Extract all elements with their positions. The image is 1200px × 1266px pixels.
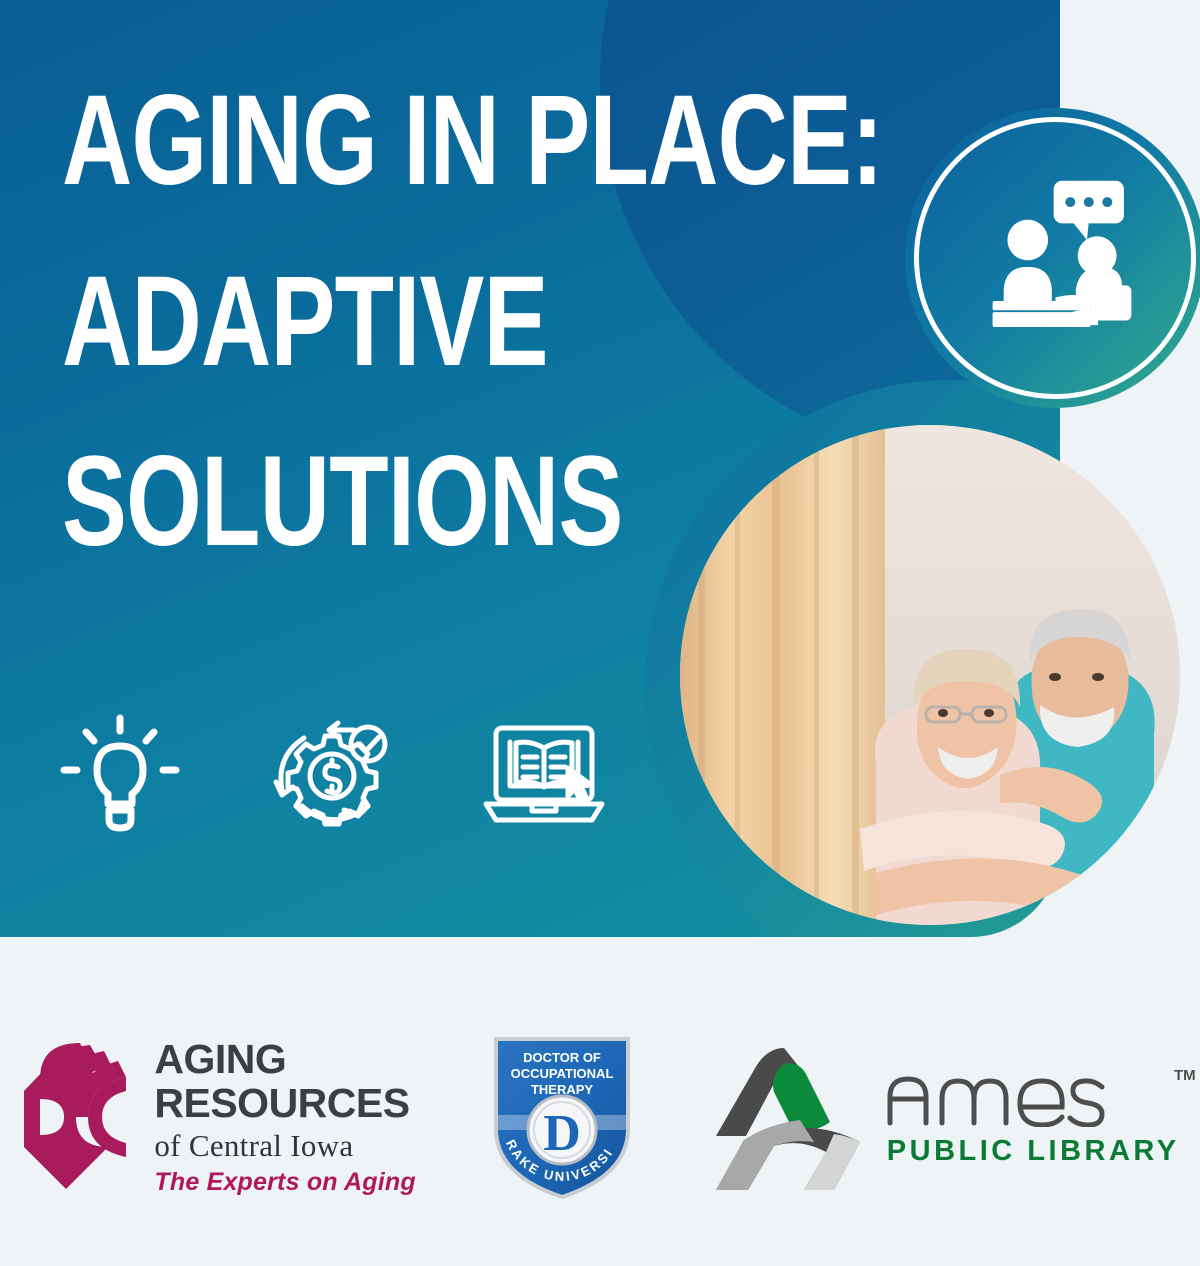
aging-resources-logo: AGING RESOURCES of Central Iowa The Expe… — [20, 1039, 415, 1195]
ames-wordmark: TM PUBLIC LIBRARY — [884, 1065, 1180, 1168]
title-line-3: SOLUTIONS — [62, 439, 693, 566]
laptop-book-icon — [480, 712, 608, 838]
ames-subtitle: PUBLIC LIBRARY — [884, 1135, 1180, 1168]
consultation-badge — [905, 108, 1200, 408]
senior-couple-photo — [680, 425, 1180, 925]
ames-trademark: TM — [1174, 1067, 1196, 1084]
aging-resources-mark-icon — [20, 1043, 140, 1191]
title-line-2: ADAPTIVE — [62, 259, 693, 386]
partner-logo-footer: AGING RESOURCES of Central Iowa The Expe… — [0, 937, 1200, 1266]
aging-resources-line-1: AGING — [154, 1039, 415, 1080]
aging-resources-wordmark: AGING RESOURCES of Central Iowa The Expe… — [154, 1039, 415, 1195]
consultation-icon — [963, 166, 1148, 351]
ames-a-mark-icon — [708, 1042, 866, 1192]
title-line-1: AGING IN PLACE: — [62, 78, 693, 205]
drake-university-logo: DOCTOR OF OCCUPATIONAL THERAPY D DRAKE U… — [482, 1029, 642, 1204]
drake-top-line-1: DOCTOR OF — [523, 1050, 601, 1065]
drake-top-line-2: OCCUPATIONAL — [510, 1066, 613, 1081]
ames-word: TM — [884, 1065, 1180, 1127]
aging-resources-line-2: RESOURCES — [154, 1083, 415, 1124]
lightbulb-icon — [56, 712, 184, 838]
gear-dollar-check-icon — [268, 712, 396, 838]
drake-monogram: D — [543, 1105, 581, 1162]
ames-public-library-logo: TM PUBLIC LIBRARY — [708, 1042, 1180, 1192]
aging-resources-line-3: of Central Iowa — [154, 1130, 415, 1161]
feature-icon-row — [56, 712, 608, 838]
aging-resources-tagline: The Experts on Aging — [154, 1170, 415, 1195]
